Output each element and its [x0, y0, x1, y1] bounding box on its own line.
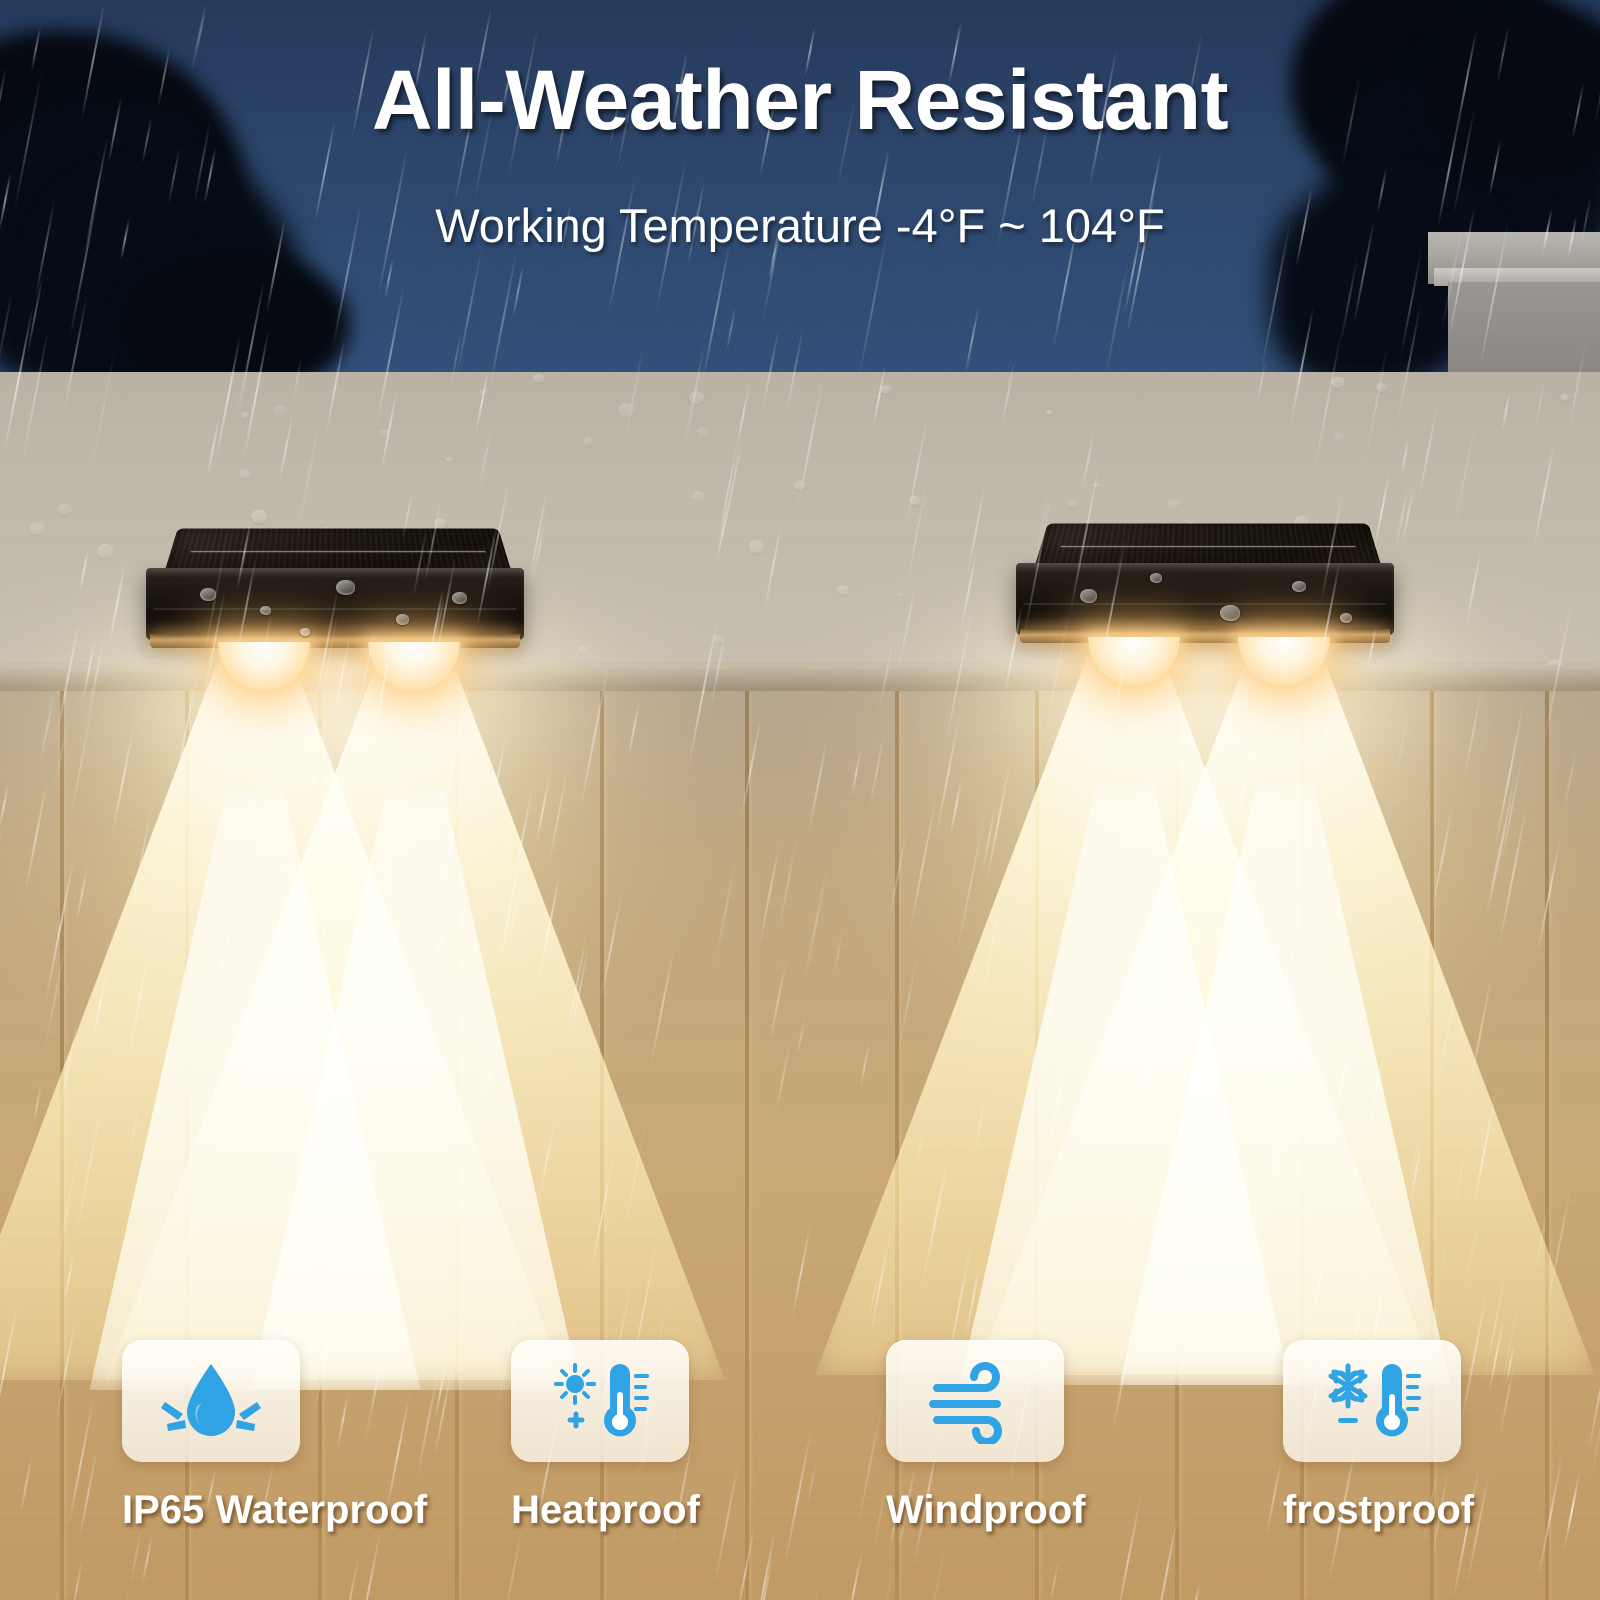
badge-label: Heatproof	[511, 1488, 689, 1533]
water-bead	[239, 469, 251, 479]
housing-bevel-right	[1016, 563, 1394, 573]
solar-light-left	[140, 510, 530, 660]
snowflake-thermometer-cold-icon	[1320, 1358, 1424, 1444]
wind-lines-icon	[923, 1358, 1027, 1444]
water-bead	[749, 540, 764, 552]
water-bead	[618, 403, 635, 417]
water-bead	[898, 593, 903, 597]
badge-label: frostproof	[1283, 1488, 1461, 1533]
badge-card	[122, 1340, 300, 1462]
feature-badge-heatproof[interactable]: Heatproof	[511, 1340, 689, 1533]
water-bead	[1561, 394, 1570, 401]
feature-badge-waterproof[interactable]: IP65 Waterproof	[122, 1340, 300, 1533]
water-bead	[446, 457, 452, 462]
badge-label: IP65 Waterproof	[122, 1488, 300, 1533]
water-drop-splash-icon	[159, 1358, 263, 1444]
light-housing-left	[146, 568, 524, 640]
solar-busbar-left	[191, 551, 486, 552]
water-bead	[713, 635, 724, 644]
water-bead	[583, 438, 592, 446]
product-feature-image: All-Weather Resistant Working Temperatur…	[0, 0, 1600, 1600]
water-droplet	[1080, 589, 1097, 603]
light-housing-right	[1016, 563, 1394, 635]
water-bead	[379, 429, 388, 437]
water-bead	[692, 491, 705, 502]
water-droplet	[260, 606, 271, 615]
water-droplet	[1220, 605, 1240, 621]
water-bead	[57, 504, 71, 516]
badge-label: Windproof	[886, 1488, 1064, 1533]
water-bead	[1333, 433, 1344, 442]
water-bead	[697, 427, 710, 437]
water-droplet	[336, 580, 355, 595]
water-bead	[30, 522, 45, 535]
water-bead	[689, 391, 704, 404]
water-bead	[533, 374, 545, 384]
water-bead	[1046, 410, 1052, 415]
light-base-plate-right	[1020, 629, 1390, 643]
water-droplet	[1340, 613, 1352, 623]
water-bead	[273, 405, 288, 417]
page-subtitle: Working Temperature -4°F ~ 104°F	[0, 198, 1600, 253]
water-droplet	[396, 614, 409, 625]
housing-bevel-left	[146, 568, 524, 578]
light-base-plate-left	[150, 634, 520, 648]
badge-card	[886, 1340, 1064, 1462]
water-droplet	[452, 592, 467, 604]
housing-seam-right	[1024, 603, 1387, 605]
water-bead	[578, 646, 588, 654]
water-bead	[1331, 377, 1344, 388]
water-droplet	[1150, 573, 1162, 583]
water-bead	[794, 481, 805, 490]
water-droplet	[200, 588, 216, 601]
sun-thermometer-hot-icon	[548, 1358, 652, 1444]
water-bead	[909, 496, 920, 505]
badge-card	[511, 1340, 689, 1462]
feature-badge-frostproof[interactable]: frostproof	[1283, 1340, 1461, 1533]
water-droplet	[1292, 581, 1306, 592]
housing-seam-left	[154, 608, 517, 610]
page-title: All-Weather Resistant	[0, 52, 1600, 149]
water-bead	[881, 385, 892, 394]
stone-post-cap-body	[1448, 282, 1600, 374]
feature-badge-windproof[interactable]: Windproof	[886, 1340, 1064, 1533]
water-bead	[479, 390, 487, 396]
solar-busbar-right	[1061, 546, 1356, 547]
water-droplet	[300, 628, 310, 636]
badge-card	[1283, 1340, 1461, 1462]
feature-badge-row: IP65 Waterproof	[0, 1340, 1600, 1590]
solar-light-right	[1010, 505, 1400, 655]
